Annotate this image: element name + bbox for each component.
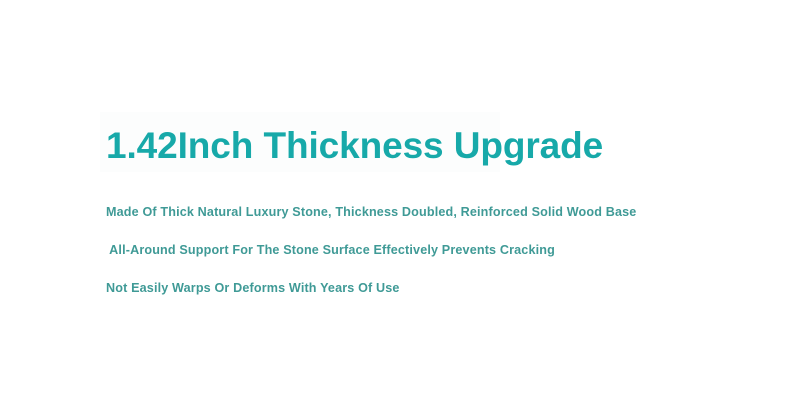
feature-list: Made Of Thick Natural Luxury Stone, Thic… [106, 204, 726, 297]
feature-panel: 1.42Inch Thickness Upgrade Made Of Thick… [0, 0, 790, 407]
feature-list-item: All-Around Support For The Stone Surface… [106, 242, 726, 259]
feature-list-item: Not Easily Warps Or Deforms With Years O… [106, 280, 726, 297]
page-title: 1.42Inch Thickness Upgrade [106, 124, 603, 168]
feature-list-item: Made Of Thick Natural Luxury Stone, Thic… [106, 204, 726, 221]
